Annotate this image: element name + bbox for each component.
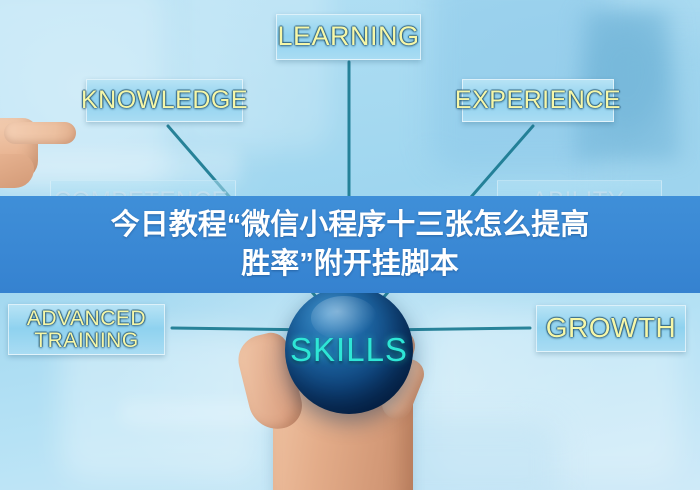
node-label-knowledge: KNOWLEDGE	[81, 88, 248, 114]
node-chip-experience: EXPERIENCE	[462, 79, 614, 122]
node-chip-advanced-training: ADVANCED TRAINING	[8, 304, 165, 355]
node-chip-learning: LEARNING	[276, 14, 421, 60]
node-label-advanced-training: ADVANCED TRAINING	[27, 308, 146, 351]
headline-text: 今日教程“微信小程序十三张怎么提高 胜率”附开挂脚本	[93, 206, 608, 283]
node-label-experience: EXPERIENCE	[455, 88, 621, 114]
node-chip-growth: GROWTH	[536, 305, 686, 352]
skills-sphere: SKILLS	[285, 286, 413, 414]
pointing-hand	[0, 96, 70, 192]
image-canvas: COMPETENCE ABILITY SKILLS LEARNING KNOWL…	[0, 0, 700, 490]
node-chip-knowledge: KNOWLEDGE	[86, 79, 243, 122]
skills-sphere-label: SKILLS	[290, 331, 408, 369]
node-label-learning: LEARNING	[277, 23, 419, 51]
headline-banner: 今日教程“微信小程序十三张怎么提高 胜率”附开挂脚本	[0, 196, 700, 293]
hand-holding-sphere: SKILLS	[228, 300, 478, 490]
node-label-growth: GROWTH	[546, 314, 677, 343]
